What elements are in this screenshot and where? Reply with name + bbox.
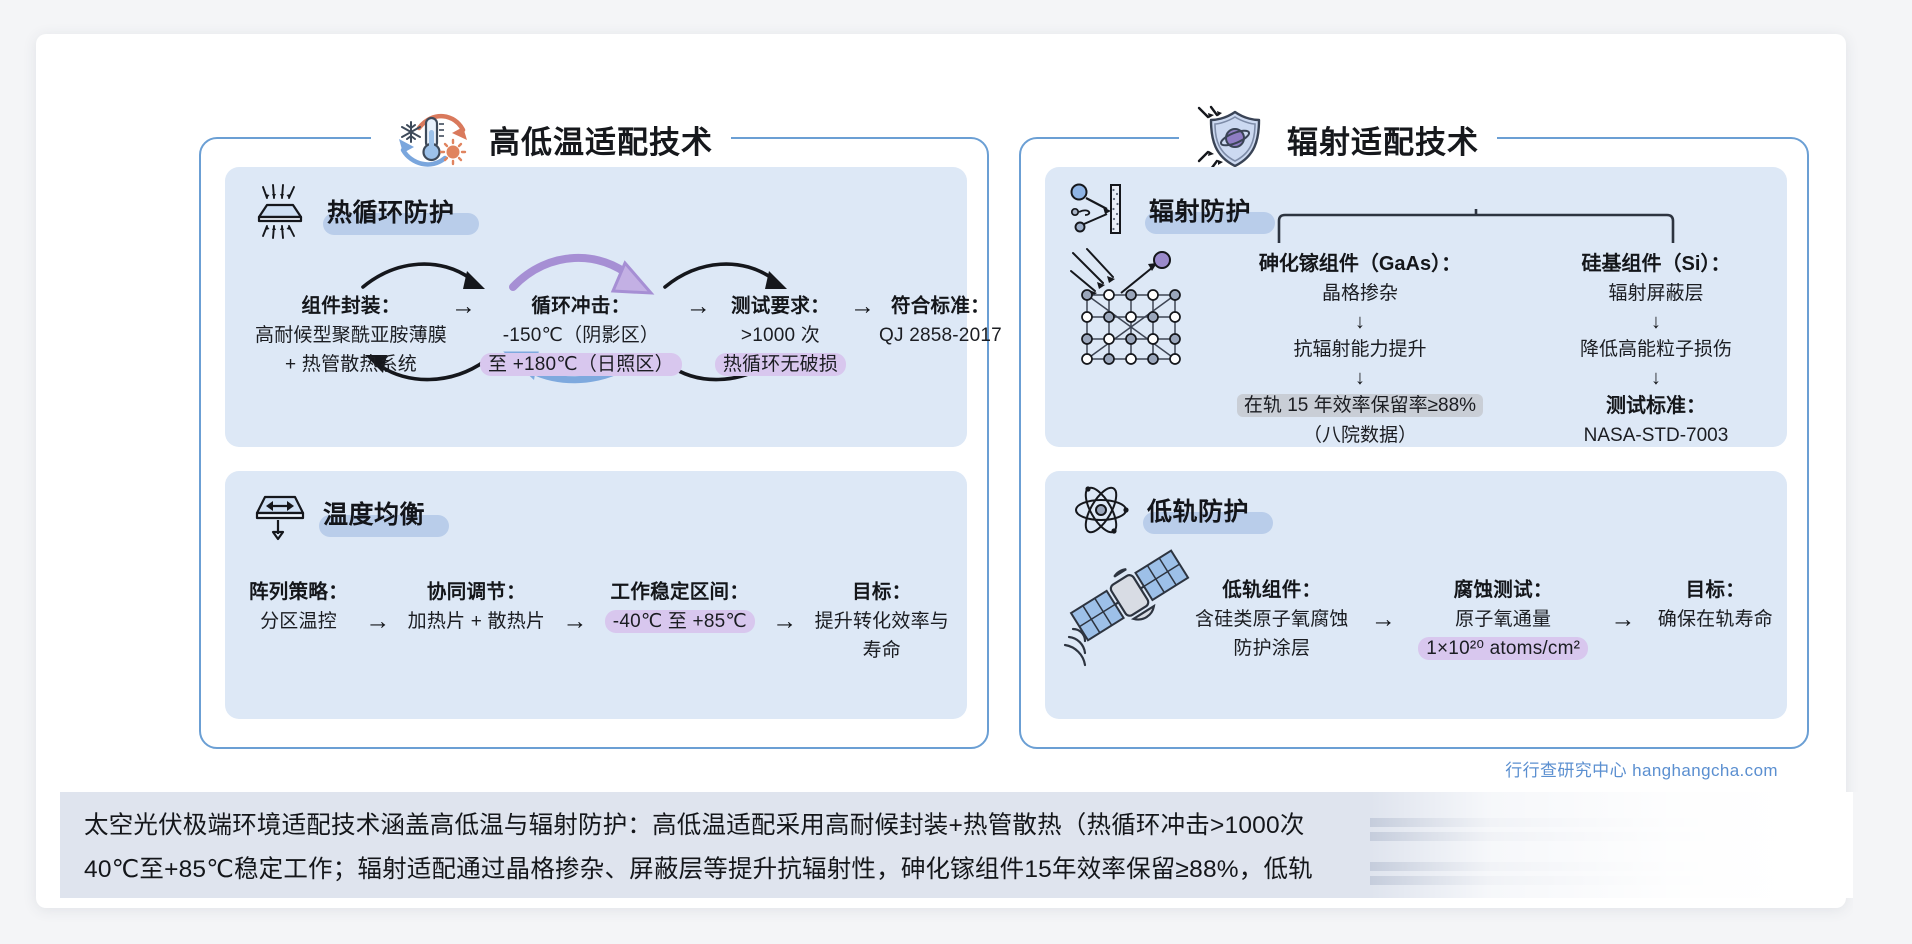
flow-node-title: 低轨组件：	[1195, 575, 1349, 605]
flow-node-line: 防护涂层	[1195, 634, 1349, 663]
flow-arrow-icon: →	[558, 606, 591, 636]
flow-temperature-balance: 阵列策略： 分区温控 → 协同调节： 加热片 + 散热片 → 工作稳定区间： -…	[249, 577, 949, 665]
down-arrow-icon: ↓	[1525, 365, 1787, 391]
flow-node-title: 测试要求：	[715, 291, 846, 321]
section-heading-radiation-protection: 辐射防护	[1067, 181, 1261, 239]
flow-arrow-icon: →	[1367, 604, 1400, 634]
section-heading-low-orbit: 低轨防护	[1071, 485, 1259, 535]
flow-node: 工作稳定区间： -40℃ 至 +85℃	[605, 577, 755, 636]
thermometer-snowflake-sun-icon	[389, 108, 475, 170]
panel-title-radiation-adaptation: 辐射适配技术	[1179, 107, 1497, 171]
infographic-page: 高低温适配技术	[0, 0, 1912, 944]
content-card: 高低温适配技术	[36, 34, 1846, 908]
flow-node-line: >1000 次	[715, 321, 846, 350]
branch-step: 抗辐射能力提升	[1195, 335, 1525, 365]
summary-band: 太空光伏极端环境适配技术涵盖高低温与辐射防护：高低温适配采用高耐候封装+热管散热…	[60, 792, 1853, 898]
flow-arrow-icon: →	[846, 291, 879, 321]
panel-title-label: 辐射适配技术	[1287, 117, 1479, 162]
panel-title-high-low-temperature: 高低温适配技术	[371, 107, 731, 171]
motion-streak	[1370, 832, 1870, 841]
heat-spreader-icon	[249, 485, 307, 541]
branch-step: 测试标准：	[1525, 391, 1787, 421]
flow-node: 腐蚀测试： 原子氧通量 1×10²⁰ atoms/cm²	[1418, 575, 1588, 663]
satellite-icon	[1061, 537, 1193, 657]
flow-node-line-highlighted: 至 +180℃（日照区）	[480, 353, 682, 376]
flow-node-line: 确保在轨寿命	[1658, 605, 1773, 634]
band-right-cut	[1853, 792, 1912, 944]
flow-node: 循环冲击： -150℃（阴影区） 至 +180℃（日照区）	[480, 291, 682, 379]
flow-node-title: 阵列策略：	[249, 577, 348, 607]
flow-node: 低轨组件： 含硅类原子氧腐蚀 防护涂层	[1195, 575, 1349, 663]
flow-node: 协同调节： 加热片 + 散热片	[408, 577, 545, 636]
lattice-scattering-icon	[1069, 247, 1191, 365]
flow-node: 组件封装： 高耐候型聚酰亚胺薄膜 + 热管散热系统	[255, 291, 447, 379]
flow-low-orbit: 低轨组件： 含硅类原子氧腐蚀 防护涂层 → 腐蚀测试： 原子氧通量 1×10²⁰…	[1195, 575, 1773, 663]
flow-arrow-icon: →	[447, 291, 480, 321]
flow-arrow-icon: →	[682, 291, 715, 321]
down-arrow-icon: ↓	[1195, 309, 1525, 335]
down-arrow-icon: ↓	[1525, 309, 1787, 335]
section-heading-label: 热循环防护	[321, 191, 465, 231]
flow-node-line-highlighted: -40℃ 至 +85℃	[605, 610, 755, 633]
section-heading-temperature-balance: 温度均衡	[249, 485, 435, 541]
flow-node: 阵列策略： 分区温控	[249, 577, 348, 636]
flow-node-title: 协同调节：	[408, 577, 545, 607]
flow-node-title: 组件封装：	[255, 291, 447, 321]
flow-node: 目标： 确保在轨寿命	[1658, 575, 1773, 634]
flow-node-title: 目标：	[1658, 575, 1773, 605]
branch-bracket	[1271, 209, 1681, 245]
flow-node-line: + 热管散热系统	[255, 350, 447, 379]
particle-shield-icon	[1067, 181, 1133, 239]
panel-high-low-temperature: 高低温适配技术	[199, 137, 989, 749]
flow-node-line: 提升转化效率与	[815, 607, 949, 636]
section-heading-label: 辐射防护	[1143, 190, 1261, 230]
branch-gaas: 砷化镓组件（GaAs）： 晶格掺杂 ↓ 抗辐射能力提升 ↓ 在轨 15 年效率保…	[1195, 249, 1525, 451]
down-arrow-icon: ↓	[1195, 365, 1525, 391]
flow-node-line-highlighted: 1×10²⁰ atoms/cm²	[1418, 637, 1588, 660]
section-temperature-balance: 温度均衡 阵列策略： 分区温控 → 协同调节： 加热片 + 散热片 → 工作稳定…	[225, 471, 967, 719]
shield-planet-icon	[1197, 106, 1273, 172]
branch-title: 砷化镓组件（GaAs）：	[1195, 249, 1525, 279]
section-heading-thermal-cycling: 热循环防护	[249, 183, 465, 239]
flow-node: 测试要求： >1000 次 热循环无破损	[715, 291, 846, 379]
flow-thermal-cycling: 组件封装： 高耐候型聚酰亚胺薄膜 + 热管散热系统 → 循环冲击： -150℃（…	[255, 291, 945, 379]
flow-arrow-icon: →	[361, 606, 394, 636]
motion-streak	[1370, 876, 1850, 885]
attribution-label: 行行查研究中心 hanghangcha.com	[1505, 756, 1778, 781]
panel-radiation-heat-icon	[249, 183, 311, 239]
section-low-orbit-protection: 低轨防护	[1045, 471, 1787, 719]
section-heading-label: 温度均衡	[317, 493, 435, 533]
flow-node: 目标： 提升转化效率与 寿命	[815, 577, 949, 665]
flow-node-line: 分区温控	[249, 607, 348, 636]
flow-node-line: 含硅类原子氧腐蚀	[1195, 605, 1349, 634]
section-thermal-cycling-protection: 热循环防护	[225, 167, 967, 447]
branch-step: NASA-STD-7003	[1525, 421, 1787, 451]
branch-si: 硅基组件（Si）： 辐射屏蔽层 ↓ 降低高能粒子损伤 ↓ 测试标准： NASA-…	[1525, 249, 1787, 451]
flow-node: 符合标准： QJ 2858-2017	[879, 291, 1002, 350]
branch-step: （八院数据）	[1195, 421, 1525, 451]
section-heading-label: 低轨防护	[1141, 490, 1259, 530]
branch-title: 硅基组件（Si）：	[1525, 249, 1787, 279]
flow-node-line: QJ 2858-2017	[879, 321, 1002, 350]
flow-node-title: 符合标准：	[879, 291, 1002, 321]
panel-title-label: 高低温适配技术	[489, 117, 713, 162]
flow-node-line-highlighted: 热循环无破损	[715, 353, 846, 376]
motion-streak	[1370, 818, 1800, 827]
flow-node-title: 目标：	[815, 577, 949, 607]
flow-node-title: 工作稳定区间：	[605, 577, 755, 607]
motion-streak	[1370, 862, 1800, 871]
flow-node-line: 加热片 + 散热片	[408, 607, 545, 636]
branch-step-highlighted: 在轨 15 年效率保留率≥88%	[1237, 394, 1483, 417]
atom-satellite-icon	[1071, 485, 1131, 535]
branch-step: 晶格掺杂	[1195, 279, 1525, 309]
section-radiation-protection: 辐射防护	[1045, 167, 1787, 447]
flow-arrow-icon: →	[768, 606, 801, 636]
branch-step: 降低高能粒子损伤	[1525, 335, 1787, 365]
flow-node-line: 高耐候型聚酰亚胺薄膜	[255, 321, 447, 350]
panel-radiation-adaptation: 辐射适配技术	[1019, 137, 1809, 749]
flow-arrow-icon: →	[1606, 604, 1639, 634]
flow-node-title: 腐蚀测试：	[1418, 575, 1588, 605]
flow-node-line: 寿命	[815, 636, 949, 665]
flow-node-line: -150℃（阴影区）	[480, 321, 682, 350]
flow-node-line: 原子氧通量	[1418, 605, 1588, 634]
branch-step: 辐射屏蔽层	[1525, 279, 1787, 309]
flow-node-title: 循环冲击：	[480, 291, 682, 321]
